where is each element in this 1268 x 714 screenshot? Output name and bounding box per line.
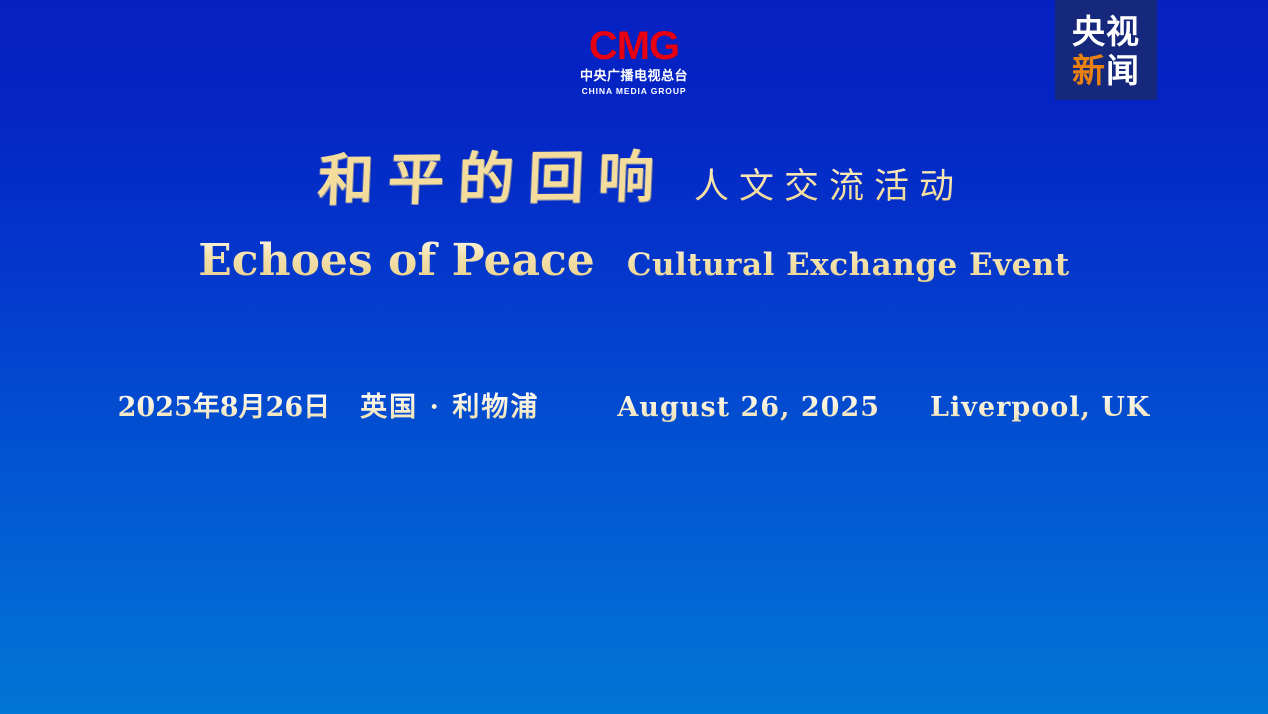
title-chinese-calligraphy: 和平的回响 [302,140,669,220]
event-details-row: 2025年8月26日 英国 · 利物浦 August 26, 2025 Live… [0,388,1268,428]
event-location-chinese: 英国 · 利物浦 [360,388,539,428]
badge-line-yangshi: 央视 [1072,12,1140,51]
badge-line-xinwen: 新闻 [1072,51,1140,90]
event-date-english: August 26, 2025 [617,388,880,428]
event-location-english: Liverpool, UK [930,388,1150,428]
title-block: 和平的回响 人文交流活动 Echoes of Peace Cultural Ex… [0,142,1268,293]
cctv-news-badge: 央视 新闻 [1055,0,1157,100]
cmg-name-english: CHINA MEDIA GROUP [582,86,687,96]
title-chinese-row: 和平的回响 人文交流活动 [0,142,1268,225]
event-date-chinese: 2025年8月26日 [118,388,331,428]
subtitle-chinese: 人文交流活动 [684,149,964,225]
title-english-row: Echoes of Peace Cultural Exchange Event [0,233,1268,293]
title-english: Echoes of Peace [198,233,595,289]
cmg-wordmark-text: CMG [589,26,679,66]
subtitle-english: Cultural Exchange Event [627,237,1070,293]
event-title-card: CMG 中央广播电视总台 CHINA MEDIA GROUP 央视 新闻 和平的… [0,0,1268,714]
badge-glyph-xin: 新 [1072,51,1106,90]
cmg-name-chinese: 中央广播电视总台 [580,69,688,84]
badge-glyph-wen: 闻 [1106,51,1140,90]
